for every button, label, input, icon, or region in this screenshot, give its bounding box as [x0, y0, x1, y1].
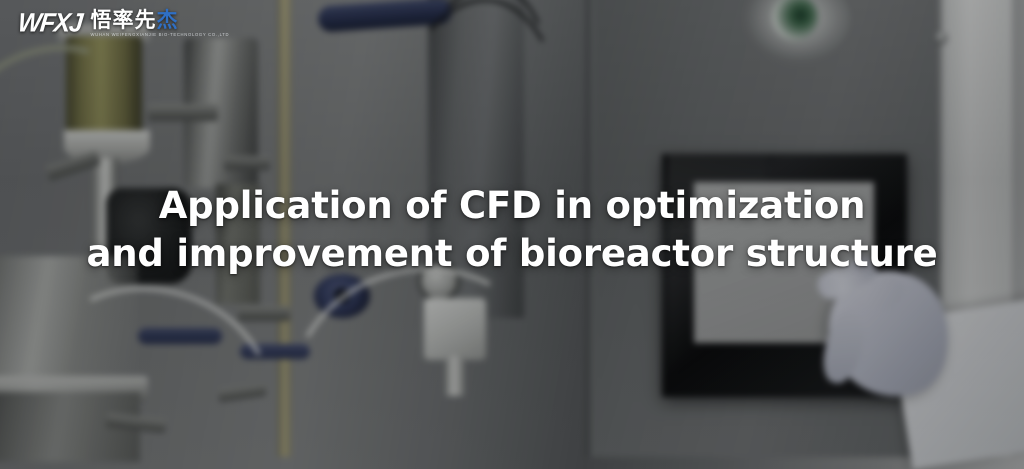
page-title: Application of CFD in optimization and i… — [0, 182, 1024, 278]
logo-tagline: WUHAN WEIFENGXIANJIE BIO-TECHNOLOGY CO.,… — [90, 33, 229, 37]
headline-line-1: Application of CFD in optimization — [24, 182, 1000, 230]
logo-chinese-block: 悟率先杰 WUHAN WEIFENGXIANJIE BIO-TECHNOLOGY… — [90, 10, 229, 37]
hero-banner: WFXJ 悟率先杰 WUHAN WEIFENGXIANJIE BIO-TECHN… — [0, 0, 1024, 469]
logo-chinese-name: 悟率先杰 — [90, 10, 229, 31]
logo-wordmark-icon: WFXJ — [17, 10, 83, 37]
logo-chinese-prefix: 悟率先 — [90, 8, 156, 32]
brand-logo[interactable]: WFXJ 悟率先杰 WUHAN WEIFENGXIANJIE BIO-TECHN… — [18, 10, 229, 37]
logo-chinese-accent: 杰 — [156, 8, 178, 32]
headline-line-2: and improvement of bioreactor structure — [24, 230, 1000, 278]
